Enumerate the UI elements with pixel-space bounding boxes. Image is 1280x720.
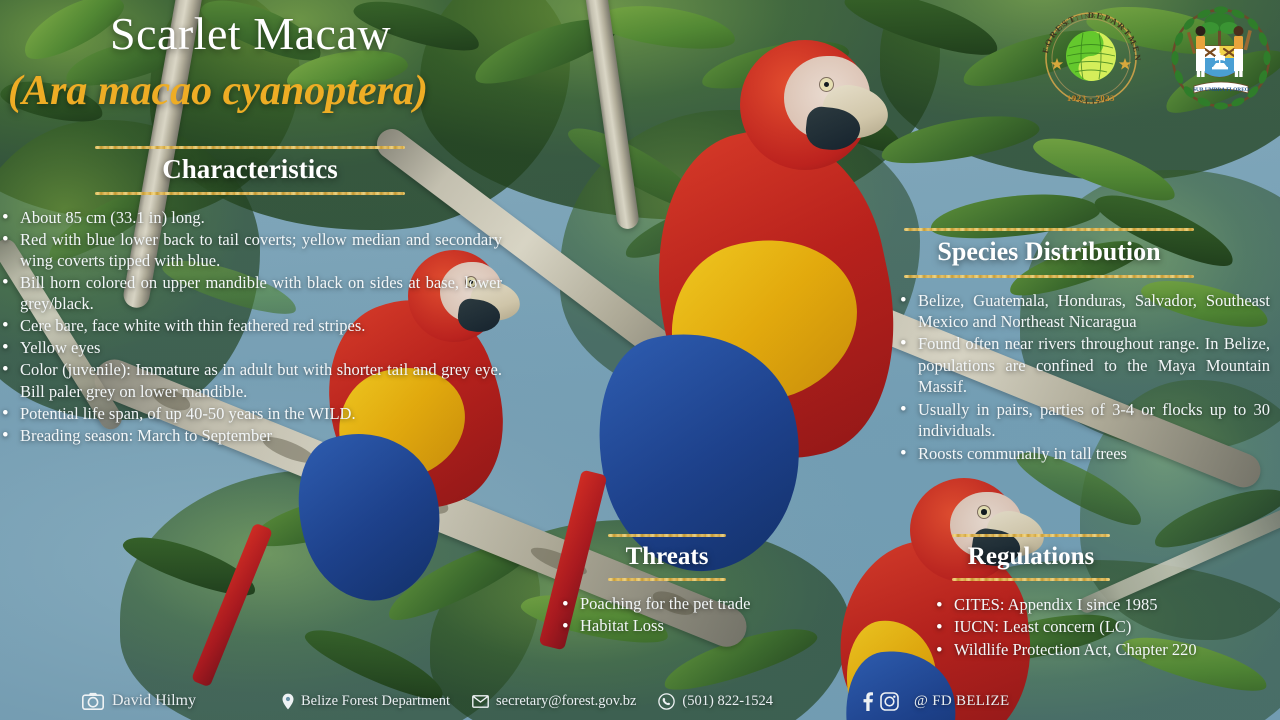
list-item: Wildlife Protection Act, Chapter 220 xyxy=(934,639,1270,662)
list-item: Belize, Guatemala, Honduras, Salvador, S… xyxy=(898,290,1270,333)
section-regulations: Regulations CITES: Appendix I since 1985… xyxy=(912,534,1270,662)
camera-icon xyxy=(82,692,104,710)
page-title: Scarlet Macaw xyxy=(0,8,620,61)
divider-rule-top xyxy=(952,534,1110,537)
divider-rule-top xyxy=(904,228,1194,231)
distribution-heading: Species Distribution xyxy=(904,231,1194,275)
contact-email[interactable]: secretary@forest.gov.bz xyxy=(472,693,636,710)
list-item: Breading season: March to September xyxy=(0,425,502,446)
list-item: IUCN: Least concern (LC) xyxy=(934,616,1270,639)
belize-coat-of-arms-logo: SUB UMBRA FLOREO xyxy=(1168,6,1274,110)
divider-rule-bottom xyxy=(95,192,405,195)
footer-bar: David Hilmy Belize Forest Department xyxy=(0,682,1280,720)
list-item: Cere bare, face white with thin feathere… xyxy=(0,315,502,336)
list-item: Habitat Loss xyxy=(560,615,878,637)
threats-heading: Threats xyxy=(608,537,726,578)
characteristics-heading: Characteristics xyxy=(95,149,405,192)
list-item: Roosts communally in tall trees xyxy=(898,443,1270,464)
list-item: Red with blue lower back to tail coverts… xyxy=(0,229,502,271)
section-characteristics: Characteristics About 85 cm (33.1 in) lo… xyxy=(0,146,520,447)
title-block: Scarlet Macaw (Ara macao cyanoptera) xyxy=(0,8,620,115)
regulations-heading: Regulations xyxy=(952,537,1110,578)
divider-rule-top xyxy=(608,534,726,537)
facebook-icon[interactable] xyxy=(861,692,874,711)
list-item: Color (juvenile): Immature as in adult b… xyxy=(0,359,502,401)
social-handle: @ FD BELIZE xyxy=(914,693,1009,710)
list-item: CITES: Appendix I since 1985 xyxy=(934,594,1270,617)
distribution-heading-wrap: Species Distribution xyxy=(904,228,1194,278)
distribution-list: Belize, Guatemala, Honduras, Salvador, S… xyxy=(898,290,1270,465)
regulations-list: CITES: Appendix I since 1985 IUCN: Least… xyxy=(912,594,1270,662)
forest-department-centennial-logo: CELEBRATING 100 YEARS FOREST DEPARTMENT … xyxy=(1035,8,1147,108)
divider-rule-bottom xyxy=(608,578,726,581)
whatsapp-icon xyxy=(658,693,675,710)
envelope-icon xyxy=(472,695,489,708)
photo-credit-name: David Hilmy xyxy=(112,692,196,710)
divider-rule-bottom xyxy=(952,578,1110,581)
contact-info: Belize Forest Department secretary@fores… xyxy=(282,693,773,710)
scientific-name: (Ara macao cyanoptera) xyxy=(0,67,620,115)
svg-text:SUB UMBRA FLOREO: SUB UMBRA FLOREO xyxy=(1193,87,1249,93)
threats-heading-wrap: Threats xyxy=(608,534,726,581)
list-item: Yellow eyes xyxy=(0,337,502,358)
divider-rule-top xyxy=(95,146,405,149)
list-item: Poaching for the pet trade xyxy=(560,593,878,615)
list-item: About 85 cm (33.1 in) long. xyxy=(0,207,502,228)
contact-email-text: secretary@forest.gov.bz xyxy=(496,693,636,710)
svg-text:1923 - 2023: 1923 - 2023 xyxy=(1067,93,1115,103)
characteristics-list: About 85 cm (33.1 in) long. Red with blu… xyxy=(0,207,520,446)
divider-rule-bottom xyxy=(904,275,1194,278)
contact-phone: (501) 822-1524 xyxy=(658,693,773,710)
location-pin-icon xyxy=(282,693,294,710)
threats-list: Poaching for the pet trade Habitat Loss xyxy=(548,593,878,638)
photo-credit: David Hilmy xyxy=(82,692,196,710)
list-item: Bill horn colored on upper mandible with… xyxy=(0,272,502,314)
section-threats: Threats Poaching for the pet trade Habit… xyxy=(548,534,878,637)
social-links: @ FD BELIZE xyxy=(861,692,1009,711)
list-item: Potential life span, of up 40-50 years i… xyxy=(0,403,502,424)
contact-phone-text: (501) 822-1524 xyxy=(682,693,773,710)
regulations-heading-wrap: Regulations xyxy=(952,534,1110,581)
section-species-distribution: Species Distribution Belize, Guatemala, … xyxy=(898,228,1270,465)
contact-location-text: Belize Forest Department xyxy=(301,693,450,710)
scarlet-macaw-infographic: Scarlet Macaw (Ara macao cyanoptera) Cha… xyxy=(0,0,1280,720)
characteristics-heading-wrap: Characteristics xyxy=(95,146,405,195)
list-item: Found often near rivers throughout range… xyxy=(898,333,1270,397)
contact-location: Belize Forest Department xyxy=(282,693,450,710)
instagram-icon[interactable] xyxy=(880,692,899,711)
list-item: Usually in pairs, parties of 3-4 or floc… xyxy=(898,399,1270,442)
